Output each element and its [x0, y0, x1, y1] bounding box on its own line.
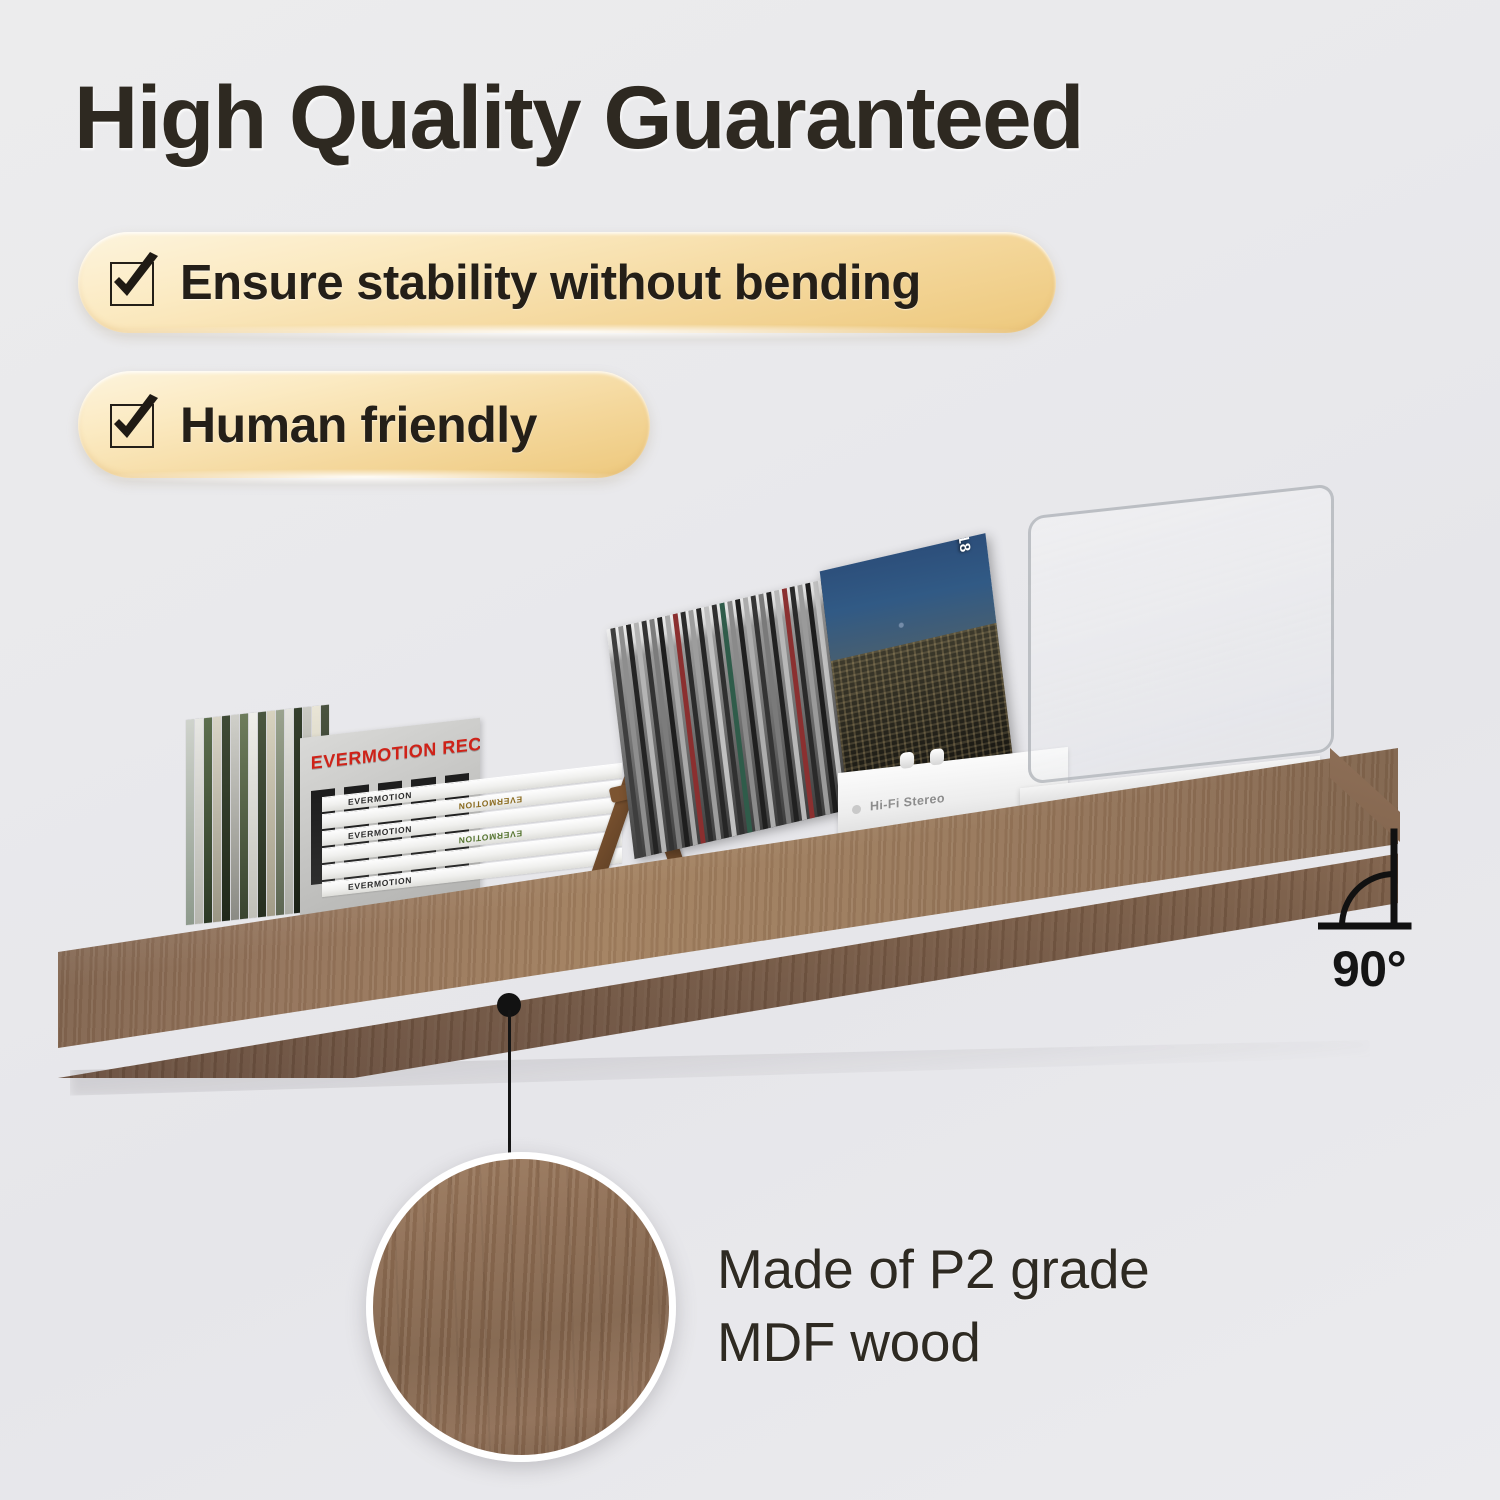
page-title: High Quality Guaranteed [74, 66, 1083, 169]
feature-badge-human-friendly: Human friendly [78, 371, 650, 478]
checkbox-checked-icon [108, 256, 162, 310]
product-feature-graphic: High Quality Guaranteed Ensure stability… [0, 0, 1500, 1500]
album-cover-title: EVERMOTION RECORD [311, 734, 477, 774]
product-scene-photo: EVERMOTION RECORD EVERMOTION EVERMOTION … [0, 480, 1500, 1180]
feature-badge-label: Ensure stability without bending [180, 255, 921, 311]
right-angle-icon [1318, 828, 1414, 940]
turntable-dust-cover [1028, 483, 1334, 784]
wood-texture-zoom-circle [366, 1152, 676, 1462]
checkbox-checked-icon [108, 398, 162, 452]
feature-badge-label: Human friendly [180, 396, 537, 454]
feature-badge-stability: Ensure stability without bending [78, 232, 1056, 333]
callout-line-2: MDF wood [717, 1306, 1149, 1379]
angle-annotation: 90° [1318, 828, 1440, 998]
callout-text: Made of P2 grade MDF wood [717, 1233, 1149, 1379]
power-led-icon [852, 804, 861, 814]
angle-value-label: 90° [1332, 940, 1406, 998]
featured-album-title: Ambient Chillout 2018 [937, 533, 974, 554]
hifi-unit-label: Hi-Fi Stereo [870, 791, 945, 814]
callout-leader-line [508, 1010, 511, 1158]
callout-line-1: Made of P2 grade [717, 1233, 1149, 1306]
